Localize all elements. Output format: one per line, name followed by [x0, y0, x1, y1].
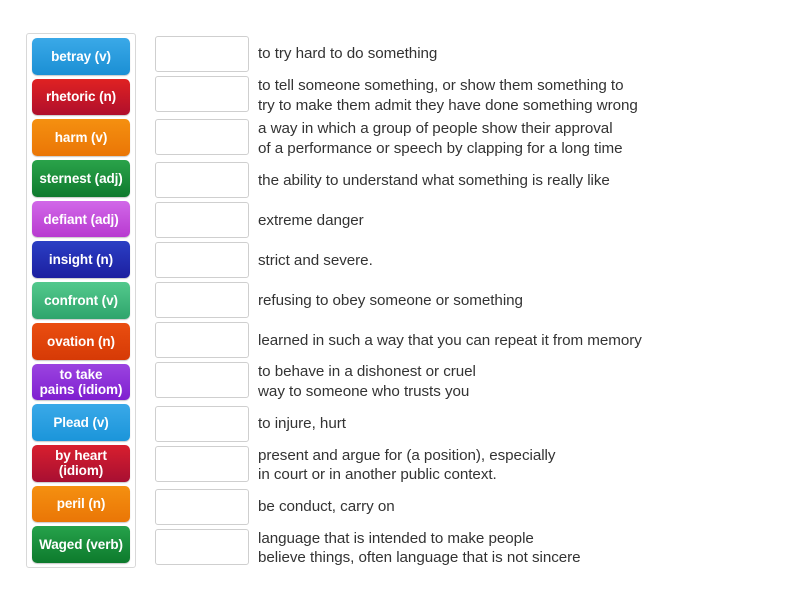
- definition-text: to injure, hurt: [249, 414, 780, 434]
- definition-rows: to try hard to do somethingto tell someo…: [155, 36, 780, 572]
- word-tile[interactable]: to take pains (idiom): [32, 364, 130, 401]
- answer-drop-box[interactable]: [155, 242, 249, 278]
- definition-row: refusing to obey someone or something: [155, 282, 780, 318]
- definition-row: to behave in a dishonest or cruel way to…: [155, 362, 780, 401]
- answer-drop-box[interactable]: [155, 322, 249, 358]
- answer-drop-box[interactable]: [155, 119, 249, 155]
- word-tile[interactable]: sternest (adj): [32, 160, 130, 197]
- word-tile[interactable]: by heart (idiom): [32, 445, 130, 482]
- answer-drop-box[interactable]: [155, 446, 249, 482]
- definition-text: extreme danger: [249, 211, 780, 231]
- definition-row: language that is intended to make people…: [155, 529, 780, 568]
- definition-row: learned in such a way that you can repea…: [155, 322, 780, 358]
- answer-drop-box[interactable]: [155, 162, 249, 198]
- word-tile[interactable]: harm (v): [32, 119, 130, 156]
- answer-drop-box[interactable]: [155, 489, 249, 525]
- word-tile[interactable]: Waged (verb): [32, 526, 130, 563]
- answer-drop-box[interactable]: [155, 529, 249, 565]
- definition-row: be conduct, carry on: [155, 489, 780, 525]
- definition-row: extreme danger: [155, 202, 780, 238]
- definition-text: present and argue for (a position), espe…: [249, 446, 780, 485]
- definition-row: a way in which a group of people show th…: [155, 119, 780, 158]
- word-tile[interactable]: insight (n): [32, 241, 130, 278]
- match-up-activity: betray (v)rhetoric (n)harm (v)sternest (…: [0, 0, 800, 600]
- answer-drop-box[interactable]: [155, 282, 249, 318]
- answer-drop-box[interactable]: [155, 36, 249, 72]
- definition-row: to injure, hurt: [155, 406, 780, 442]
- definition-text: the ability to understand what something…: [249, 171, 780, 191]
- word-tile[interactable]: confront (v): [32, 282, 130, 319]
- answer-drop-box[interactable]: [155, 76, 249, 112]
- definition-text: language that is intended to make people…: [249, 529, 780, 568]
- word-tile[interactable]: defiant (adj): [32, 201, 130, 238]
- definition-row: to try hard to do something: [155, 36, 780, 72]
- answer-drop-box[interactable]: [155, 202, 249, 238]
- definition-text: be conduct, carry on: [249, 497, 780, 517]
- definition-row: present and argue for (a position), espe…: [155, 446, 780, 485]
- definition-row: strict and severe.: [155, 242, 780, 278]
- word-tile[interactable]: ovation (n): [32, 323, 130, 360]
- definition-text: to try hard to do something: [249, 44, 780, 64]
- word-tile[interactable]: rhetoric (n): [32, 79, 130, 116]
- answer-drop-box[interactable]: [155, 406, 249, 442]
- definition-text: a way in which a group of people show th…: [249, 119, 780, 158]
- word-tile[interactable]: betray (v): [32, 38, 130, 75]
- word-tile[interactable]: Plead (v): [32, 404, 130, 441]
- definition-row: the ability to understand what something…: [155, 162, 780, 198]
- definition-text: learned in such a way that you can repea…: [249, 331, 780, 351]
- definition-row: to tell someone something, or show them …: [155, 76, 780, 115]
- word-tile[interactable]: peril (n): [32, 486, 130, 523]
- definition-text: strict and severe.: [249, 251, 780, 271]
- word-tile-tray: betray (v)rhetoric (n)harm (v)sternest (…: [26, 33, 136, 568]
- answer-drop-box[interactable]: [155, 362, 249, 398]
- definition-text: to behave in a dishonest or cruel way to…: [249, 362, 780, 401]
- definition-text: refusing to obey someone or something: [249, 291, 780, 311]
- definition-text: to tell someone something, or show them …: [249, 76, 780, 115]
